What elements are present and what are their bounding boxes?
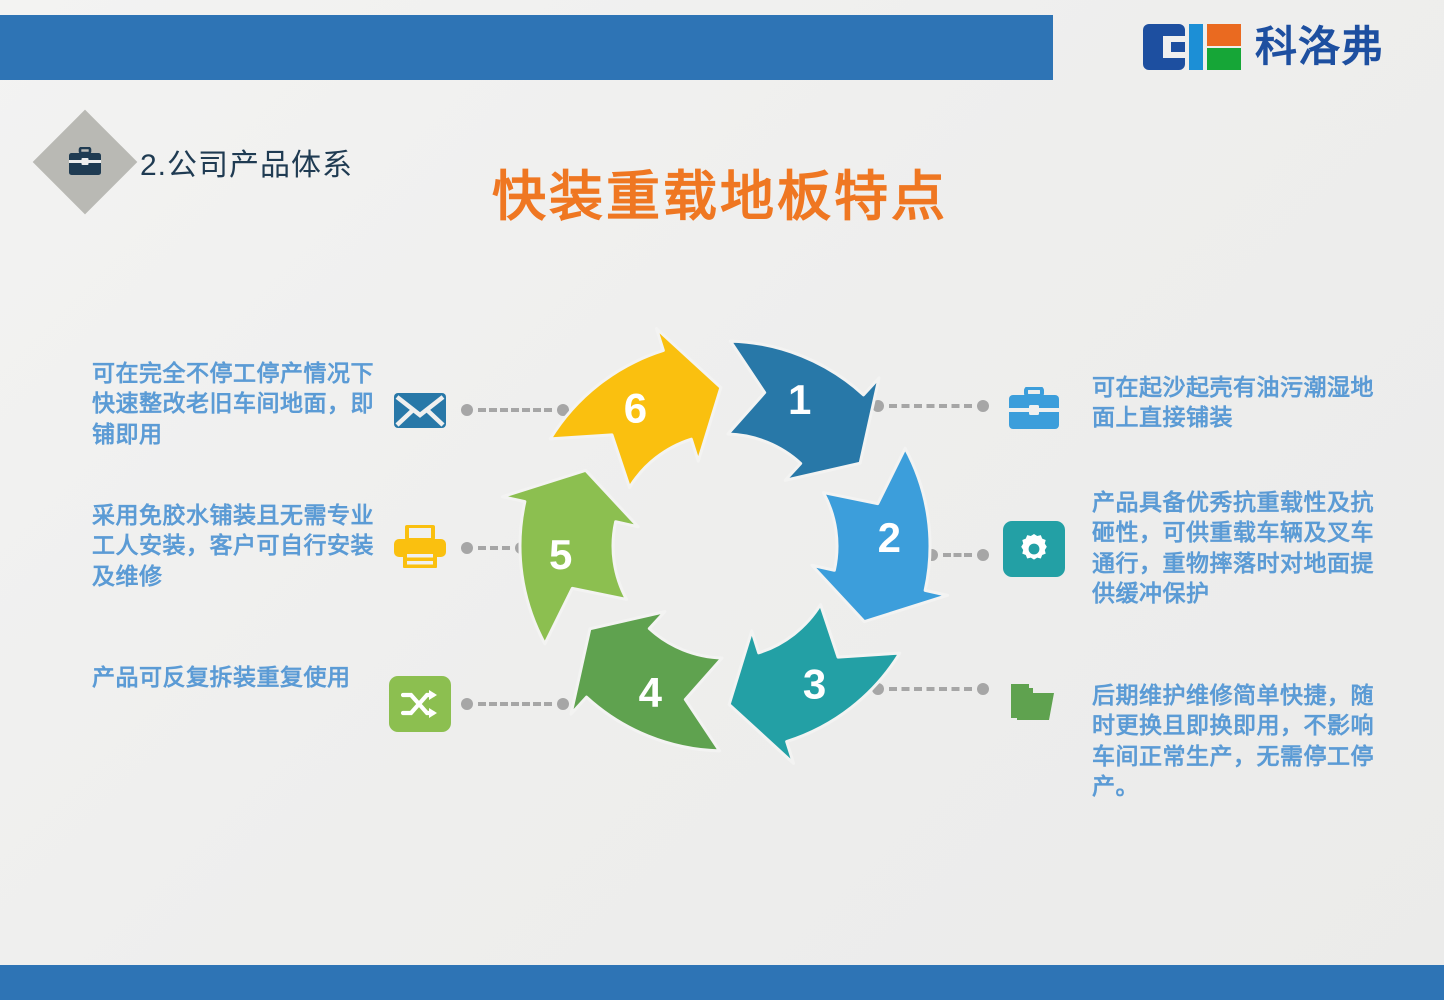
logo-blue-bar [1189,24,1203,70]
logo-orange-square [1207,24,1241,46]
envelope-icon [389,382,451,438]
cycle-segment-number: 5 [549,531,572,578]
cycle-segment-number: 2 [878,514,901,561]
section-label: 2.公司产品体系 [140,140,353,184]
gear-icon [1003,521,1065,577]
section-tag: 2.公司产品体系 [48,125,353,199]
connector-dot [461,404,473,416]
feature-text-5: 产品具备优秀抗重载性及抗砸性，可供重载车辆及叉车通行，重物摔落时对地面提供缓冲保… [1092,487,1382,608]
connector-dot [461,542,473,554]
folder-icon [1003,673,1065,729]
cycle-diagram: 123456 [497,318,953,774]
slide-canvas: 科洛弗 2.公司产品体系 快装重载地板特点 可在完全不停工停产情况下快速整改老旧… [0,0,1444,1000]
feature-text-2: 采用免胶水铺装且无需专业工人安装，客户可自行安装及维修 [92,500,377,591]
connector-dot [977,683,989,695]
logo-c-shape [1143,24,1185,70]
shuffle-icon [389,676,451,732]
logo-mark-icon [1143,23,1241,71]
briefcase-icon [68,147,102,177]
bottom-accent-bar [0,965,1444,1000]
cycle-segment-number: 6 [624,385,647,432]
feature-text-3: 产品可反复拆装重复使用 [92,662,377,692]
cycle-segment-number: 3 [803,660,826,707]
printer-icon [389,518,451,574]
feature-text-4: 可在起沙起壳有油污潮湿地面上直接铺装 [1092,372,1382,433]
company-logo: 科洛弗 [1143,18,1384,76]
logo-color-stack [1207,24,1241,70]
briefcase-icon [1003,381,1065,437]
connector-dot [977,549,989,561]
connector-dot [461,698,473,710]
logo-green-square [1207,48,1241,70]
section-diamond [33,110,138,215]
connector-dot [977,400,989,412]
cycle-segment-number: 4 [639,669,663,716]
page-title: 快装重载地板特点 [492,152,948,231]
logo-wordmark: 科洛弗 [1255,26,1384,68]
feature-text-6: 后期维护维修简单快捷，随时更换且即换即用，不影响车间正常生产，无需停工停产。 [1092,680,1382,801]
feature-text-1: 可在完全不停工停产情况下快速整改老旧车间地面，即铺即用 [92,358,377,449]
cycle-segment-number: 1 [788,376,811,423]
top-accent-bar [0,15,1053,80]
